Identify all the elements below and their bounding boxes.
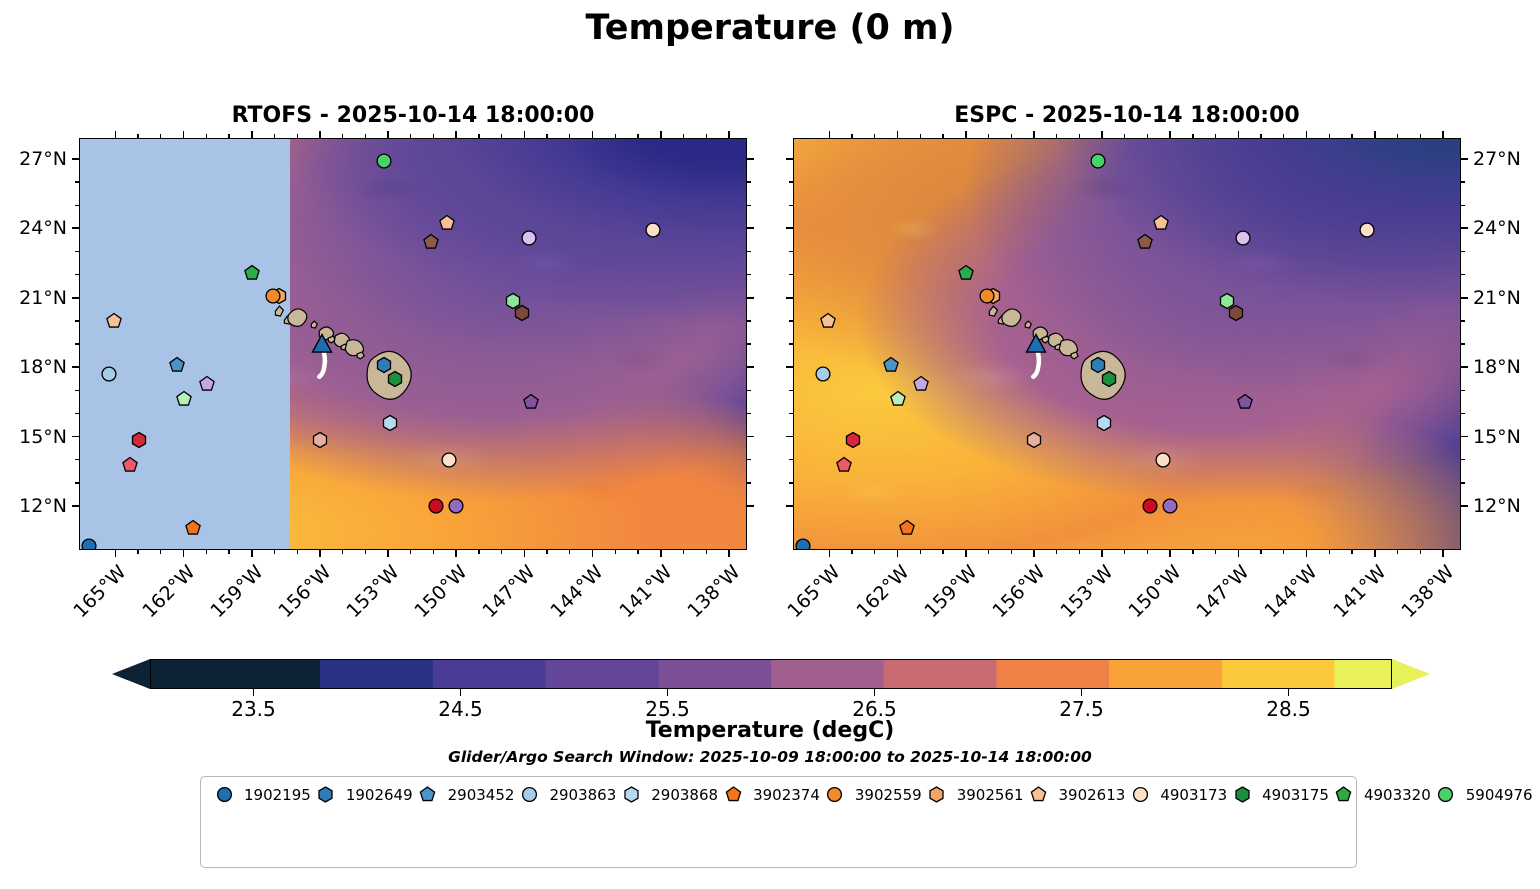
axis-tick — [1461, 205, 1465, 206]
axis-tick — [137, 550, 138, 554]
axis-tick — [365, 134, 366, 138]
axis-tick — [1056, 134, 1057, 138]
axis-tick — [251, 131, 253, 138]
axis-tick — [747, 158, 754, 160]
axis-tick — [72, 297, 79, 299]
axis-tick — [72, 436, 79, 438]
axis-tick — [72, 505, 79, 507]
map-marker-5905862 — [836, 457, 851, 472]
colorbar-tick-label: 27.5 — [1037, 697, 1127, 721]
legend-item-label: 3902374 — [753, 786, 820, 804]
axis-tick — [789, 320, 793, 321]
ytick-label: 27°N — [1473, 148, 1540, 170]
legend-item-2903868[interactable]: 2903868 — [616, 784, 718, 805]
map-marker-5906814 — [514, 305, 529, 320]
axis-tick — [365, 550, 366, 554]
map-marker-2903868 — [1097, 416, 1112, 431]
map-marker-5904976 — [1090, 153, 1105, 168]
circle-icon — [209, 785, 239, 805]
axis-tick — [874, 550, 875, 554]
map-marker-5906811 — [521, 231, 536, 246]
map-marker-4903173b — [1156, 453, 1171, 468]
axis-tick — [1461, 343, 1465, 344]
axis-tick — [206, 134, 207, 138]
axis-tick — [965, 131, 967, 138]
map-marker-3902613 — [1153, 216, 1168, 231]
axis-tick — [1461, 436, 1468, 438]
axis-tick — [206, 550, 207, 554]
axis-tick — [1461, 297, 1468, 299]
axis-tick — [728, 131, 730, 138]
map-marker-2903868 — [383, 416, 398, 431]
axis-tick — [747, 413, 751, 414]
legend-item-label: 1902195 — [244, 786, 311, 804]
map-marker-4903320 — [245, 265, 260, 280]
axis-tick — [786, 436, 793, 438]
colorbar: 23.524.525.526.527.528.5 — [112, 659, 1430, 689]
axis-tick — [747, 343, 751, 344]
axis-tick — [747, 181, 751, 182]
map-marker-5905275 — [891, 392, 906, 407]
colorbar-extend-max — [1392, 659, 1430, 689]
map-marker-3902613 — [439, 216, 454, 231]
hexagon-icon — [616, 785, 646, 805]
axis-tick — [1260, 134, 1261, 138]
colorbar-tick-label: 24.5 — [416, 697, 506, 721]
map-marker-4903173 — [1360, 222, 1375, 237]
map-marker-5906815 — [1138, 234, 1153, 249]
axis-tick — [592, 131, 594, 138]
axis-tick — [747, 297, 754, 299]
axis-tick — [1147, 134, 1148, 138]
legend-item-4903173[interactable]: 4903173 — [1125, 784, 1227, 805]
axis-tick — [342, 550, 343, 554]
axis-tick — [1033, 131, 1035, 138]
map-panel-rtofs[interactable] — [79, 138, 747, 550]
axis-tick — [1442, 131, 1444, 138]
colorbar-gradient — [150, 659, 1392, 689]
ytick-label: 24°N — [0, 217, 67, 239]
axis-tick — [786, 505, 793, 507]
axis-tick — [72, 366, 79, 368]
axis-tick — [789, 459, 793, 460]
map-marker-5905862 — [122, 457, 137, 472]
legend-item-label: 5904976 — [1466, 786, 1533, 804]
circle-icon — [820, 785, 850, 805]
axis-tick — [747, 390, 751, 391]
axis-tick — [789, 274, 793, 275]
axis-tick — [988, 550, 989, 554]
legend-item-3902559[interactable]: 3902559 — [820, 784, 922, 805]
colorbar-tick-label: 23.5 — [209, 697, 299, 721]
axis-tick — [851, 550, 852, 554]
axis-tick — [297, 550, 298, 554]
hexagon-icon — [922, 785, 952, 805]
axis-tick — [897, 550, 899, 557]
axis-tick — [1374, 131, 1376, 138]
ytick-label: 27°N — [0, 148, 67, 170]
axis-tick — [1124, 550, 1125, 554]
axis-tick — [228, 134, 229, 138]
map-marker-5905275 — [177, 392, 192, 407]
axis-tick — [637, 134, 638, 138]
map-marker-2903452 — [884, 357, 899, 372]
axis-tick — [829, 550, 831, 557]
colorbar-tick — [460, 689, 461, 696]
axis-tick — [747, 505, 754, 507]
axis-tick — [920, 550, 921, 554]
axis-tick — [478, 134, 479, 138]
map-marker-4903175 — [387, 371, 402, 386]
ytick-label: 18°N — [1473, 356, 1540, 378]
axis-tick — [1461, 227, 1468, 229]
map-marker-3902559 — [979, 288, 994, 303]
axis-tick — [747, 459, 751, 460]
hexagon-icon — [1227, 785, 1257, 805]
legend-item-label: 4903320 — [1364, 786, 1431, 804]
ytick-label: 15°N — [0, 426, 67, 448]
masked-no-data-region — [80, 139, 290, 549]
axis-tick — [660, 550, 662, 557]
map-marker-4903320 — [959, 265, 974, 280]
axis-tick — [75, 205, 79, 206]
axis-tick — [829, 131, 831, 138]
axis-tick — [137, 134, 138, 138]
axis-tick — [706, 134, 707, 138]
legend-item-label: 2903863 — [549, 786, 616, 804]
axis-tick — [1169, 131, 1171, 138]
axis-tick — [1420, 550, 1421, 554]
axis-tick — [637, 550, 638, 554]
axis-tick — [1461, 320, 1465, 321]
axis-tick — [1169, 550, 1171, 557]
legend-item-label: 3902559 — [855, 786, 922, 804]
axis-tick — [786, 227, 793, 229]
axis-tick — [1283, 550, 1284, 554]
map-marker-1902195 — [82, 538, 97, 550]
axis-tick — [1461, 251, 1465, 252]
legend-item-4903320[interactable]: 4903320 — [1329, 784, 1431, 805]
axis-tick — [1329, 550, 1330, 554]
axis-tick — [546, 134, 547, 138]
axis-tick — [410, 550, 411, 554]
axis-tick — [501, 550, 502, 554]
axis-tick — [251, 550, 253, 557]
axis-tick — [789, 251, 793, 252]
circle-icon — [1431, 785, 1461, 805]
axis-tick — [897, 131, 899, 138]
axis-tick — [747, 205, 751, 206]
map-marker-5906164 — [1237, 394, 1252, 409]
legend-grid: 1902195190264929034522903863290386839023… — [201, 784, 1356, 805]
axis-tick — [683, 550, 684, 554]
map-marker-5906400 — [449, 499, 464, 514]
axis-tick — [728, 550, 730, 557]
axis-tick — [75, 413, 79, 414]
figure-canvas: Temperature (0 m) RTOFS - 2025-10-14 18:… — [0, 0, 1540, 889]
ytick-label: 21°N — [1473, 287, 1540, 309]
colorbar-label: Temperature (degC) — [0, 718, 1540, 743]
axis-tick — [1306, 131, 1308, 138]
map-marker-5906815 — [424, 234, 439, 249]
colorbar-tick — [253, 689, 254, 696]
map-marker-5906811 — [1235, 231, 1250, 246]
map-marker-3902613b — [820, 313, 835, 328]
map-marker-5906814 — [1228, 305, 1243, 320]
axis-tick — [1238, 131, 1240, 138]
axis-tick — [1011, 134, 1012, 138]
map-marker-5905855 — [845, 432, 860, 447]
search-window-note: Glider/Argo Search Window: 2025-10-09 18… — [0, 748, 1540, 766]
axis-tick — [1101, 131, 1103, 138]
map-marker-sg626 — [313, 335, 332, 354]
axis-tick — [433, 134, 434, 138]
map-marker-2903452 — [170, 357, 185, 372]
panel-title-espc: ESPC - 2025-10-14 18:00:00 — [793, 103, 1461, 128]
map-marker-5906400 — [1163, 499, 1178, 514]
axis-tick — [1461, 274, 1465, 275]
axis-tick — [874, 134, 875, 138]
axis-tick — [789, 390, 793, 391]
axis-tick — [1329, 134, 1330, 138]
circle-icon — [514, 785, 544, 805]
axis-tick — [747, 320, 751, 321]
legend-item-label: 3902561 — [957, 786, 1024, 804]
axis-tick — [1192, 134, 1193, 138]
axis-tick — [75, 181, 79, 182]
axis-tick — [988, 134, 989, 138]
axis-tick — [524, 131, 526, 138]
map-marker-3902374 — [900, 521, 915, 536]
axis-tick — [920, 134, 921, 138]
legend-item-5904976[interactable]: 5904976 — [1431, 784, 1533, 805]
axis-tick — [747, 251, 751, 252]
hexagon-icon — [311, 785, 341, 805]
legend-item-4903175[interactable]: 4903175 — [1227, 784, 1329, 805]
axis-tick — [1374, 550, 1376, 557]
map-marker-3902559 — [265, 288, 280, 303]
axis-tick — [615, 550, 616, 554]
axis-tick — [1215, 134, 1216, 138]
legend-item-1902649[interactable]: 1902649 — [311, 784, 413, 805]
axis-tick — [569, 134, 570, 138]
axis-tick — [1011, 550, 1012, 554]
axis-tick — [478, 550, 479, 554]
colorbar-tick — [1288, 689, 1289, 696]
map-marker-3902374 — [186, 521, 201, 536]
legend-item-label: 4903173 — [1160, 786, 1227, 804]
axis-tick — [455, 131, 457, 138]
axis-tick — [747, 274, 751, 275]
axis-tick — [115, 131, 117, 138]
axis-tick — [786, 158, 793, 160]
axis-tick — [1260, 550, 1261, 554]
axis-tick — [75, 482, 79, 483]
legend-item-3902613[interactable]: 3902613 — [1024, 784, 1126, 805]
hexagon-icon — [1533, 785, 1540, 805]
map-marker-5905746 — [1142, 499, 1157, 514]
axis-tick — [789, 205, 793, 206]
colorbar-tick-label: 25.5 — [623, 697, 713, 721]
map-marker-5906757 — [199, 377, 214, 392]
map-marker-5905855 — [131, 432, 146, 447]
axis-tick — [75, 320, 79, 321]
legend-item-1902195[interactable]: 1902195 — [209, 784, 311, 805]
axis-tick — [1147, 550, 1148, 554]
legend-item-3902561[interactable]: 3902561 — [922, 784, 1024, 805]
axis-tick — [274, 550, 275, 554]
axis-tick — [1283, 134, 1284, 138]
pentagon-icon — [413, 785, 443, 805]
map-marker-5904976 — [376, 153, 391, 168]
axis-tick — [274, 134, 275, 138]
axis-tick — [387, 550, 389, 557]
axis-tick — [183, 131, 185, 138]
axis-tick — [72, 158, 79, 160]
axis-tick — [160, 550, 161, 554]
platform-legend[interactable]: 1902195190264929034522903863290386839023… — [200, 776, 1357, 868]
map-marker-3902613b — [106, 313, 121, 328]
axis-tick — [660, 131, 662, 138]
axis-tick — [115, 550, 117, 557]
axis-tick — [1079, 134, 1080, 138]
axis-tick — [965, 550, 967, 557]
axis-tick — [75, 390, 79, 391]
pentagon-icon — [718, 785, 748, 805]
ytick-label: 15°N — [1473, 426, 1540, 448]
legend-item-3902374[interactable]: 3902374 — [718, 784, 820, 805]
axis-tick — [851, 134, 852, 138]
axis-tick — [1306, 550, 1308, 557]
axis-tick — [75, 343, 79, 344]
ytick-label: 12°N — [0, 495, 67, 517]
axis-tick — [747, 482, 751, 483]
map-marker-7901104 — [313, 432, 328, 447]
colorbar-extend-min — [112, 659, 150, 689]
axis-tick — [342, 134, 343, 138]
axis-tick — [410, 134, 411, 138]
axis-tick — [387, 131, 389, 138]
axis-tick — [1461, 413, 1465, 414]
axis-tick — [747, 436, 754, 438]
axis-tick — [1442, 550, 1444, 557]
axis-tick — [789, 343, 793, 344]
axis-tick — [1461, 390, 1465, 391]
legend-item-5905270[interactable]: 5905270 — [1533, 784, 1540, 805]
axis-tick — [75, 274, 79, 275]
axis-tick — [1056, 550, 1057, 554]
panel-title-rtofs: RTOFS - 2025-10-14 18:00:00 — [79, 103, 747, 128]
axis-tick — [1351, 134, 1352, 138]
colorbar-tick — [667, 689, 668, 696]
map-marker-4903173 — [646, 222, 661, 237]
colorbar-tick-label: 28.5 — [1244, 697, 1334, 721]
map-marker-2903863 — [102, 366, 117, 381]
axis-tick — [706, 550, 707, 554]
map-panel-espc[interactable] — [793, 138, 1461, 550]
map-marker-5905746 — [428, 499, 443, 514]
axis-tick — [160, 134, 161, 138]
legend-item-label: 1902649 — [346, 786, 413, 804]
axis-tick — [1461, 366, 1468, 368]
axis-tick — [1420, 134, 1421, 138]
axis-tick — [433, 550, 434, 554]
ytick-label: 21°N — [0, 287, 67, 309]
axis-tick — [789, 181, 793, 182]
axis-tick — [297, 134, 298, 138]
axis-tick — [1101, 550, 1103, 557]
legend-item-label: 3902613 — [1059, 786, 1126, 804]
axis-tick — [228, 550, 229, 554]
axis-tick — [72, 227, 79, 229]
legend-item-2903863[interactable]: 2903863 — [514, 784, 616, 805]
map-marker-1902649 — [376, 357, 391, 372]
axis-tick — [942, 134, 943, 138]
axis-tick — [1192, 550, 1193, 554]
axis-tick — [75, 251, 79, 252]
map-marker-4903175 — [1101, 371, 1116, 386]
axis-tick — [1461, 459, 1465, 460]
axis-tick — [1397, 134, 1398, 138]
axis-tick — [789, 482, 793, 483]
map-marker-4903173b — [442, 453, 457, 468]
axis-tick — [1461, 505, 1468, 507]
legend-item-2903452[interactable]: 2903452 — [413, 784, 515, 805]
ytick-label: 24°N — [1473, 217, 1540, 239]
axis-tick — [1124, 134, 1125, 138]
axis-tick — [1461, 158, 1468, 160]
axis-tick — [1033, 550, 1035, 557]
axis-tick — [747, 366, 754, 368]
map-marker-2903863 — [816, 366, 831, 381]
axis-tick — [1351, 550, 1352, 554]
ytick-label: 18°N — [0, 356, 67, 378]
pentagon-icon — [1024, 785, 1054, 805]
axis-tick — [747, 227, 754, 229]
colorbar-tick — [1081, 689, 1082, 696]
colorbar-tick-label: 26.5 — [830, 697, 920, 721]
axis-tick — [786, 297, 793, 299]
axis-tick — [789, 413, 793, 414]
axis-tick — [1215, 550, 1216, 554]
axis-tick — [319, 131, 321, 138]
map-marker-5906164 — [523, 394, 538, 409]
axis-tick — [524, 550, 526, 557]
legend-item-label: 4903175 — [1262, 786, 1329, 804]
axis-tick — [1461, 181, 1465, 182]
map-marker-5906757 — [913, 377, 928, 392]
figure-title: Temperature (0 m) — [0, 8, 1540, 48]
axis-tick — [569, 550, 570, 554]
axis-tick — [683, 134, 684, 138]
pentagon-icon — [1329, 785, 1359, 805]
axis-tick — [455, 550, 457, 557]
axis-tick — [1397, 550, 1398, 554]
axis-tick — [1079, 550, 1080, 554]
map-marker-sg626 — [1027, 335, 1046, 354]
axis-tick — [546, 550, 547, 554]
map-marker-1902649 — [1090, 357, 1105, 372]
axis-tick — [501, 134, 502, 138]
ytick-label: 12°N — [1473, 495, 1540, 517]
axis-tick — [1461, 482, 1465, 483]
axis-tick — [1238, 550, 1240, 557]
axis-tick — [319, 550, 321, 557]
axis-tick — [615, 134, 616, 138]
axis-tick — [75, 459, 79, 460]
sst-field-espc — [794, 139, 1460, 549]
axis-tick — [183, 550, 185, 557]
